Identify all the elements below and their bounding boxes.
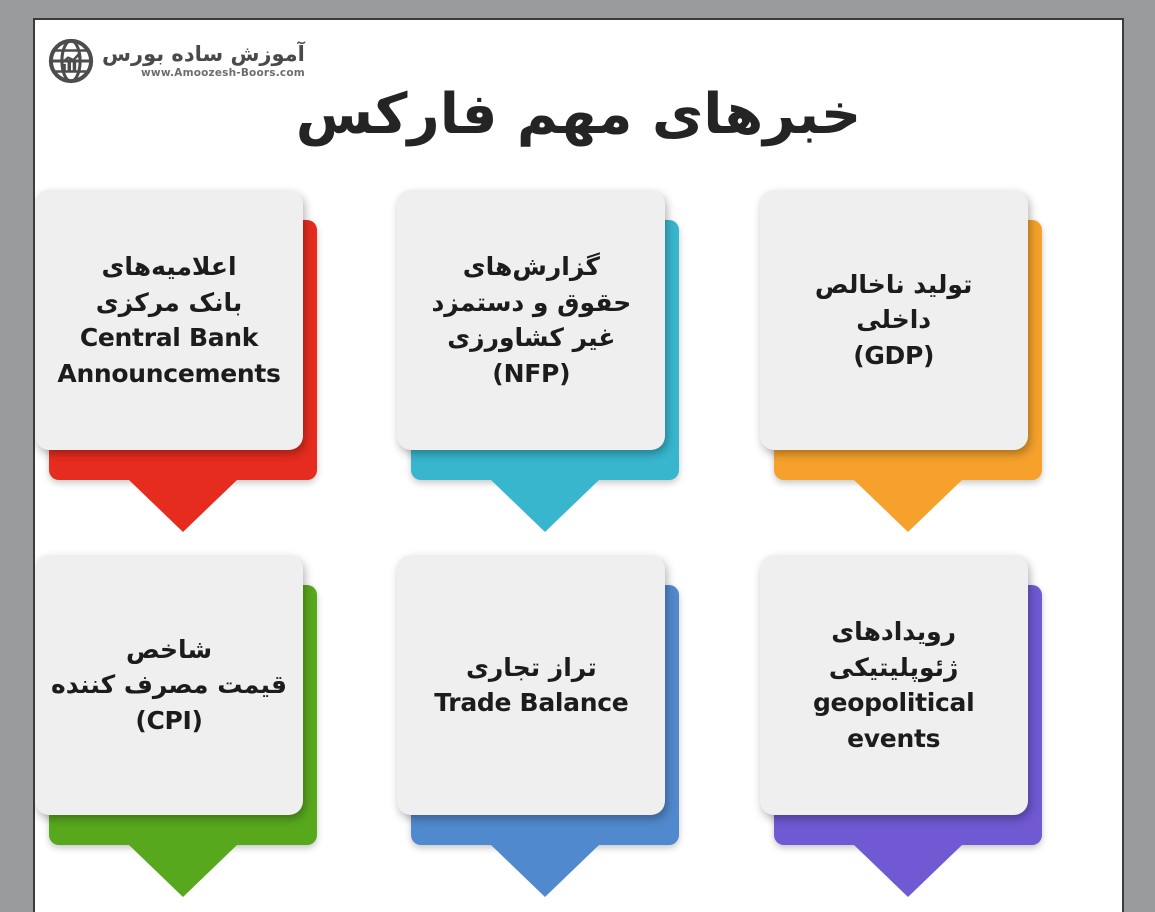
card-label-line: غیر کشاورزی (NFP)	[411, 320, 651, 391]
brand-logo[interactable]: آموزش ساده بورس www.Amoozesh-Boors.com	[48, 38, 305, 84]
card-label-line: گزارش‌های	[411, 249, 651, 285]
news-card-trade-balance[interactable]: تراز تجاریTrade Balance	[397, 525, 759, 890]
brand-name: آموزش ساده بورس	[102, 44, 305, 65]
card-label-line: بانک مرکزی	[57, 285, 280, 321]
card-label: تولید ناخالص داخلی(GDP)	[774, 267, 1014, 374]
news-card-gdp[interactable]: تولید ناخالص داخلی(GDP)	[760, 160, 1122, 525]
brand-wordmark: آموزش ساده بورس www.Amoozesh-Boors.com	[102, 44, 305, 79]
card-label: گزارش‌هایحقوق و دستمزدغیر کشاورزی (NFP)	[411, 249, 651, 391]
card-label-line: رویدادهای ژئوپلیتیکی	[774, 614, 1014, 685]
card-label-line: (CPI)	[51, 703, 287, 739]
card-label-line: تولید ناخالص داخلی	[774, 267, 1014, 338]
news-card-geopolitical[interactable]: رویدادهای ژئوپلیتیکیgeopolitical events	[760, 525, 1122, 890]
card-label: اعلامیه‌هایبانک مرکزیCentral BankAnnounc…	[57, 249, 280, 391]
news-card-central-bank[interactable]: اعلامیه‌هایبانک مرکزیCentral BankAnnounc…	[35, 160, 397, 525]
brand-url: www.Amoozesh-Boors.com	[141, 68, 305, 79]
outer-frame: آموزش ساده بورس www.Amoozesh-Boors.com خ…	[0, 0, 1155, 912]
card-label-line: تراز تجاری	[434, 650, 628, 686]
infographic-canvas: آموزش ساده بورس www.Amoozesh-Boors.com خ…	[33, 18, 1124, 912]
card-label-line: geopolitical events	[774, 685, 1014, 756]
card-panel: گزارش‌هایحقوق و دستمزدغیر کشاورزی (NFP)	[397, 190, 665, 450]
card-panel: تراز تجاریTrade Balance	[397, 555, 665, 815]
card-label-line: اعلامیه‌های	[57, 249, 280, 285]
news-card-cpi[interactable]: شاخصقیمت مصرف کننده(CPI)	[35, 525, 397, 890]
card-label-line: (GDP)	[774, 338, 1014, 374]
page-title: خبرهای مهم فارکس	[35, 82, 1122, 147]
card-panel: رویدادهای ژئوپلیتیکیgeopolitical events	[760, 555, 1028, 815]
card-label-line: Trade Balance	[434, 685, 628, 721]
card-label-line: Announcements	[57, 356, 280, 392]
card-label-line: Central Bank	[57, 320, 280, 356]
card-label-line: حقوق و دستمزد	[411, 285, 651, 321]
card-label-line: قیمت مصرف کننده	[51, 667, 287, 703]
card-panel: شاخصقیمت مصرف کننده(CPI)	[35, 555, 303, 815]
card-label: رویدادهای ژئوپلیتیکیgeopolitical events	[774, 614, 1014, 756]
card-panel: اعلامیه‌هایبانک مرکزیCentral BankAnnounc…	[35, 190, 303, 450]
card-label-line: شاخص	[51, 632, 287, 668]
news-card-nfp[interactable]: گزارش‌هایحقوق و دستمزدغیر کشاورزی (NFP)	[397, 160, 759, 525]
card-panel: تولید ناخالص داخلی(GDP)	[760, 190, 1028, 450]
globe-chart-icon	[48, 38, 94, 84]
news-card-grid: تولید ناخالص داخلی(GDP)گزارش‌هایحقوق و د…	[35, 160, 1122, 890]
card-label: شاخصقیمت مصرف کننده(CPI)	[51, 632, 287, 739]
card-label: تراز تجاریTrade Balance	[434, 650, 628, 721]
